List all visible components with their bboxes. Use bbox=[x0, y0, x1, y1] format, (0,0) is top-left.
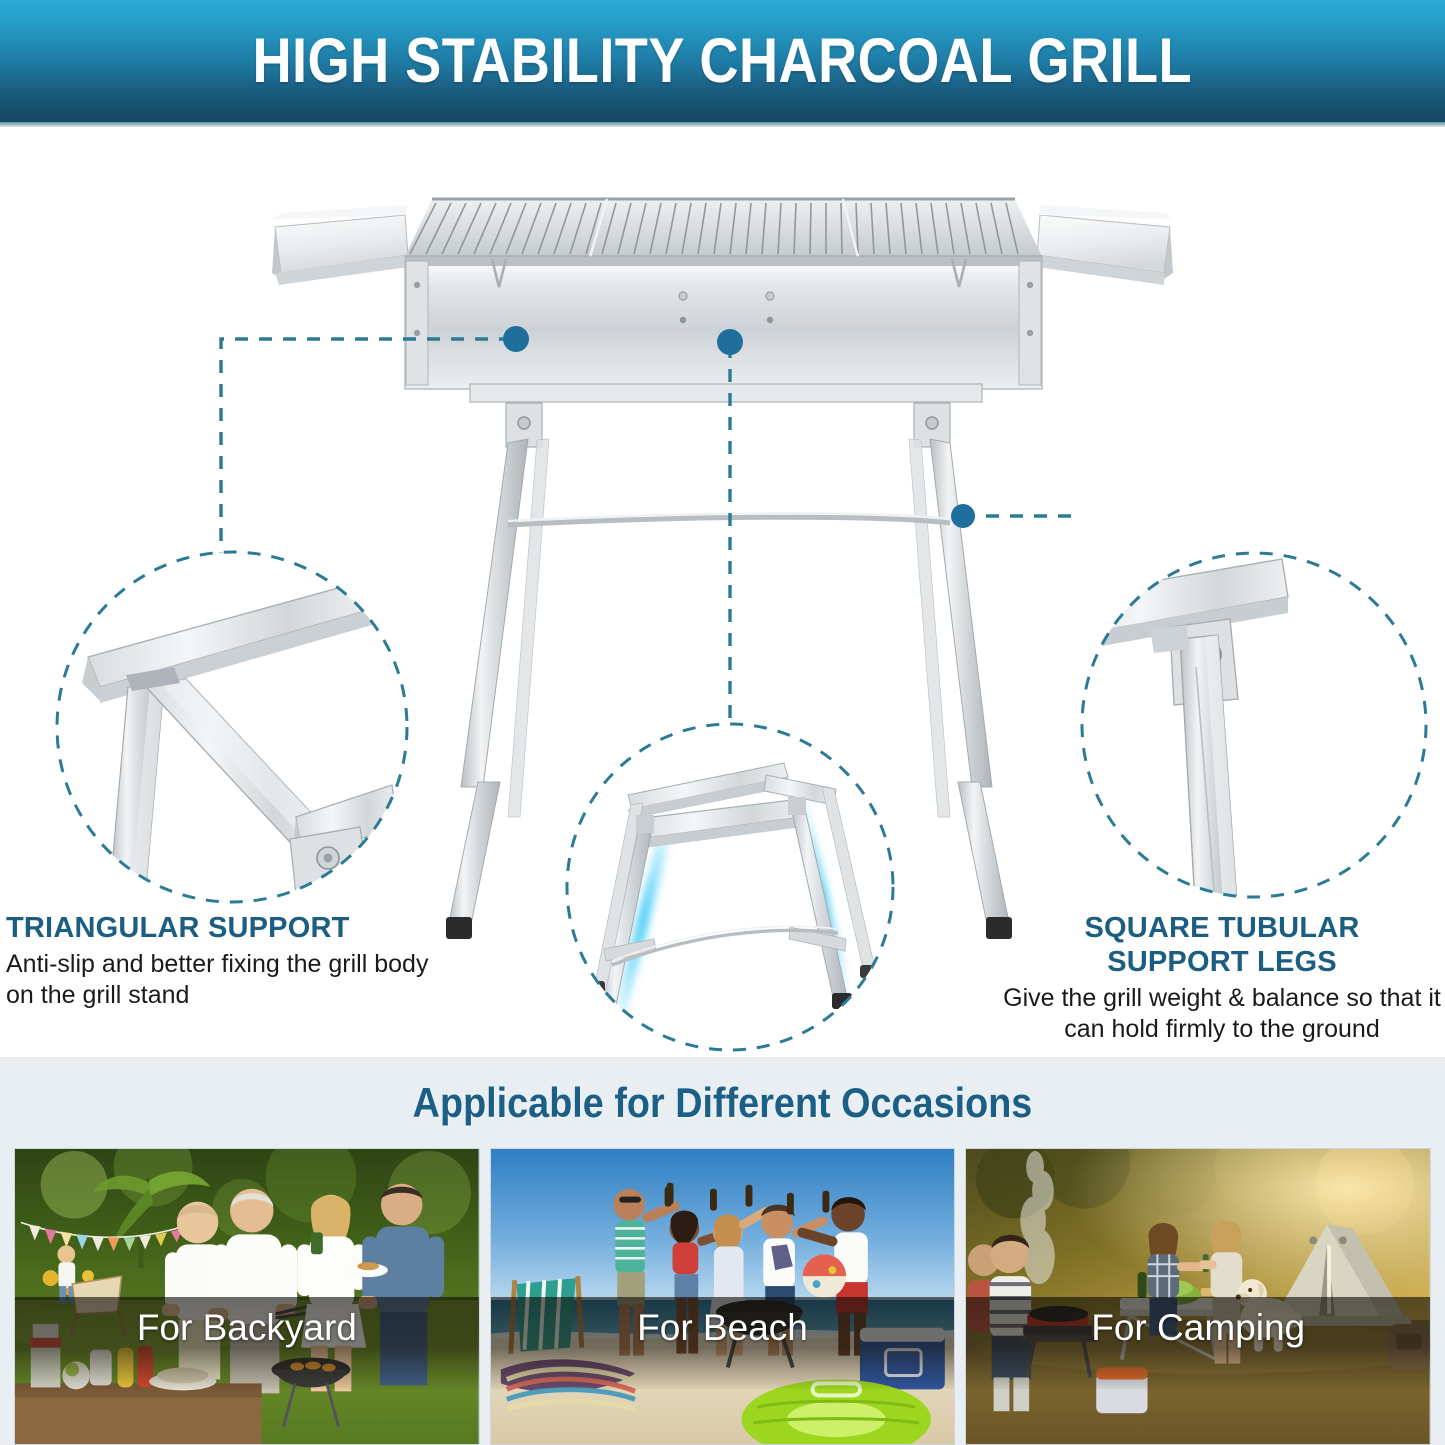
callout-triangular-support bbox=[57, 552, 407, 902]
feature-description-triangular-support: Anti-slip and better fixing the grill bo… bbox=[6, 949, 436, 1010]
leader-line-left bbox=[221, 339, 512, 557]
feature-text-square-tubular-legs: SQUARE TUBULAR SUPPORT LEGS Give the gri… bbox=[1002, 911, 1442, 1044]
square-tubular-leg-detail bbox=[1054, 559, 1288, 921]
callout-trapezoidal-structure bbox=[567, 724, 893, 1050]
occasions-title: Applicable for Different Occasions bbox=[72, 1079, 1373, 1127]
callout-dot-left bbox=[503, 326, 529, 352]
left-side-shelf bbox=[272, 205, 408, 285]
right-side-shelf bbox=[1037, 205, 1173, 285]
occasions-section: Applicable for Different Occasions bbox=[0, 1057, 1445, 1445]
occasion-photo-camping: For Camping bbox=[965, 1148, 1431, 1445]
header-banner: HIGH STABILITY CHARCOAL GRILL bbox=[0, 0, 1445, 122]
occasion-caption-beach: For Beach bbox=[491, 1307, 955, 1349]
feature-title-triangular-support: TRIANGULAR SUPPORT bbox=[6, 911, 436, 945]
feature-panel: TRIANGULAR SUPPORT Anti-slip and better … bbox=[0, 127, 1445, 1057]
grill-legs bbox=[446, 439, 1012, 939]
child-figure bbox=[57, 1245, 75, 1304]
triangular-support-detail bbox=[82, 582, 398, 895]
occasions-photo-row: For Backyard bbox=[0, 1148, 1445, 1445]
grill-firebox bbox=[405, 257, 1042, 402]
feature-text-triangular-support: TRIANGULAR SUPPORT Anti-slip and better … bbox=[6, 911, 436, 1010]
occasion-photo-backyard: For Backyard bbox=[14, 1148, 480, 1445]
cooking-grate bbox=[405, 199, 1042, 257]
callout-dot-right bbox=[951, 504, 975, 528]
occasion-caption-backyard: For Backyard bbox=[15, 1307, 479, 1349]
trapezoidal-structure-detail bbox=[588, 763, 877, 1033]
occasion-caption-camping: For Camping bbox=[966, 1307, 1430, 1349]
occasion-photo-beach: For Beach bbox=[490, 1148, 956, 1445]
feature-title-square-tubular-legs-line1: SQUARE TUBULAR bbox=[1002, 911, 1442, 945]
leg-brackets bbox=[506, 403, 950, 447]
callout-dot-center bbox=[717, 329, 743, 355]
feature-title-square-tubular-legs-line2: SUPPORT LEGS bbox=[1002, 945, 1442, 979]
page-title: HIGH STABILITY CHARCOAL GRILL bbox=[253, 25, 1193, 97]
leader-lines bbox=[221, 339, 1082, 723]
grill-illustration bbox=[272, 199, 1173, 939]
callout-square-tubular-legs bbox=[1054, 553, 1426, 921]
feature-description-square-tubular-legs: Give the grill weight & balance so that … bbox=[1002, 983, 1442, 1044]
